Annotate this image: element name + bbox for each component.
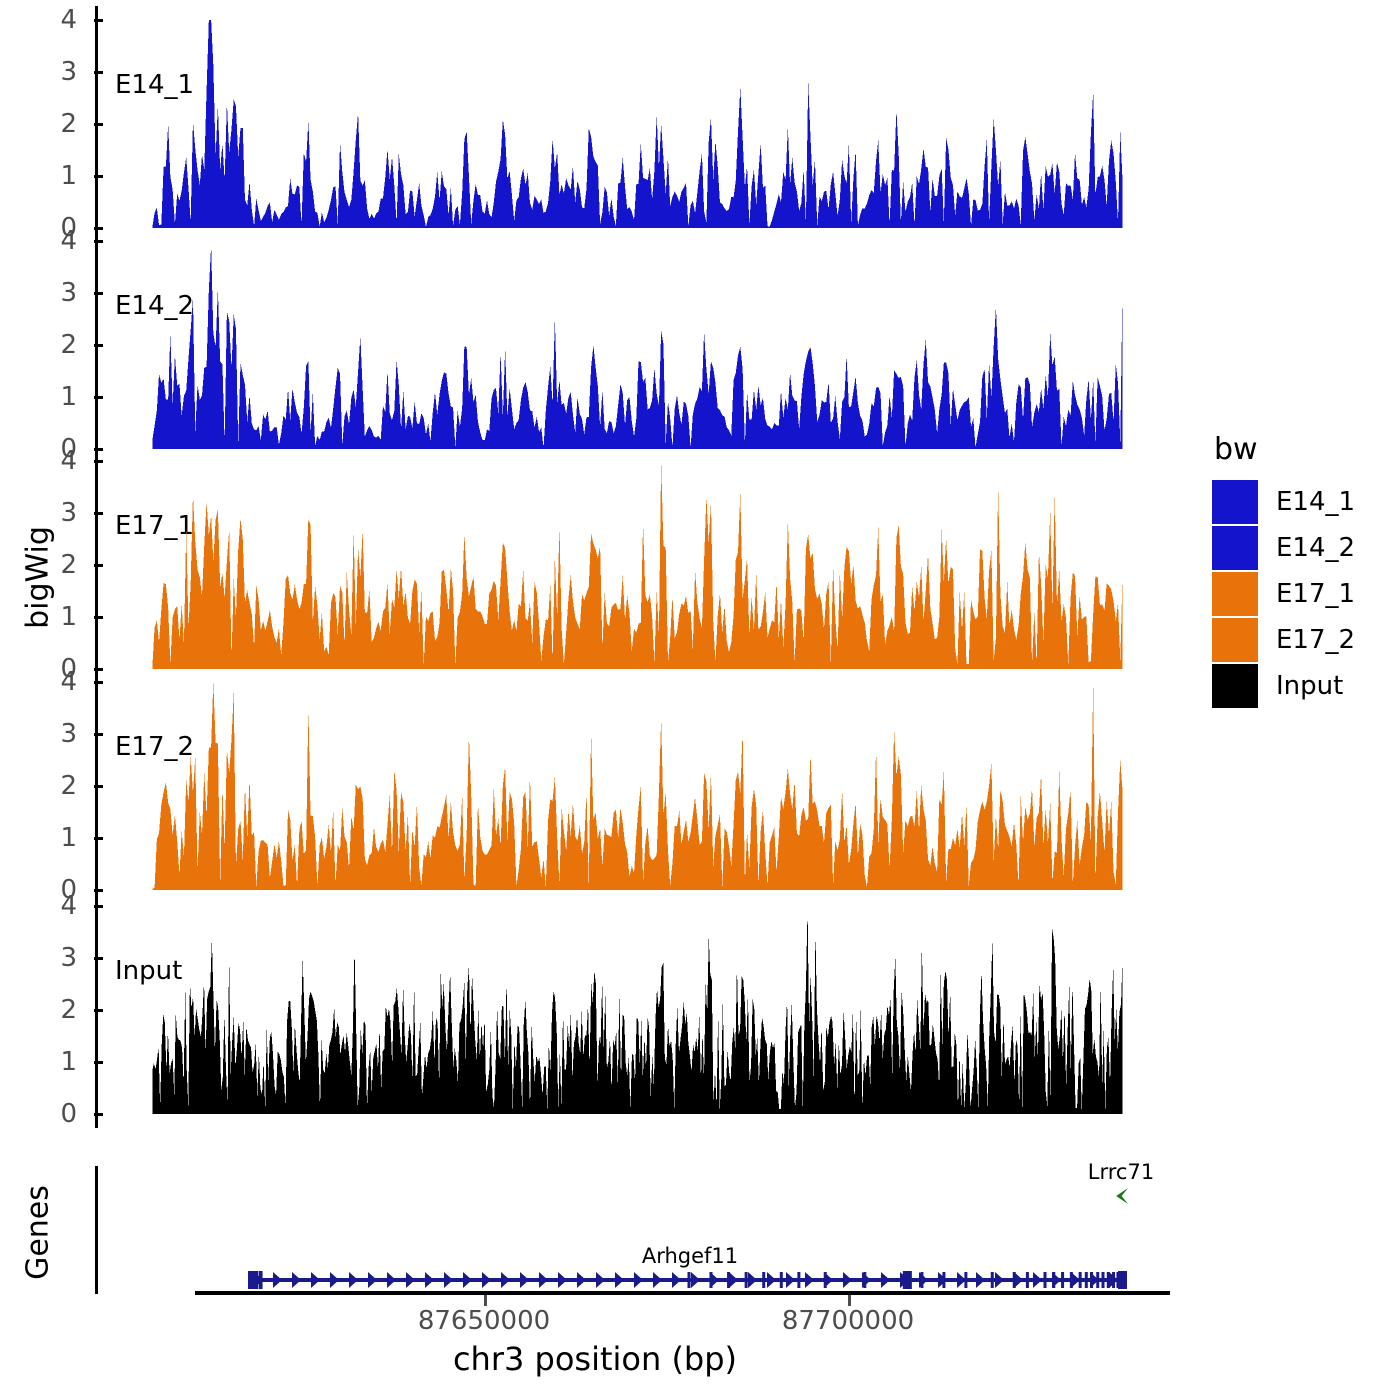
- signal-area-e14_1: [0, 6, 1190, 242]
- legend-label: E14_1: [1276, 487, 1355, 517]
- legend-label: E17_2: [1276, 625, 1355, 655]
- legend-swatch: [1212, 618, 1258, 662]
- signal-area-e14_2: [0, 227, 1190, 463]
- legend-items: E14_1E14_2E17_1E17_2Input: [1212, 479, 1397, 709]
- legend-item-e17_2[interactable]: E17_2: [1212, 617, 1397, 663]
- gene-label-lrrc71: Lrrc71: [1088, 1160, 1154, 1184]
- bigwig-track-e17_1: 01234E17_1: [0, 447, 1190, 683]
- gene-model-arhgef11[interactable]: [248, 1267, 1127, 1293]
- genome-browser-figure: bigWig Genes 01234E14_101234E14_201234E1…: [0, 0, 1400, 1400]
- legend-item-e17_1[interactable]: E17_1: [1212, 571, 1397, 617]
- bigwig-track-e17_2: 01234E17_2: [0, 668, 1190, 904]
- x-tick-mark: [484, 1295, 487, 1306]
- legend-label: Input: [1276, 671, 1343, 701]
- gene-model-lrrc71[interactable]: [1114, 1183, 1128, 1209]
- legend-item-input[interactable]: Input: [1212, 663, 1397, 709]
- gene-label-arhgef11: Arhgef11: [642, 1244, 738, 1268]
- legend-item-e14_1[interactable]: E14_1: [1212, 479, 1397, 525]
- x-axis-title: chr3 position (bp): [0, 1340, 1190, 1378]
- bigwig-track-input: 01234Input: [0, 892, 1190, 1128]
- bigwig-track-e14_1: 01234E14_1: [0, 6, 1190, 242]
- legend-swatch: [1212, 664, 1258, 708]
- legend-swatch: [1212, 526, 1258, 570]
- legend-swatch: [1212, 572, 1258, 616]
- signal-area-e17_2: [0, 668, 1190, 904]
- gene-axis-baseline: [195, 1291, 1170, 1295]
- legend-swatch: [1212, 480, 1258, 524]
- legend-label: E14_2: [1276, 533, 1355, 563]
- legend-item-e14_2[interactable]: E14_2: [1212, 525, 1397, 571]
- x-tick-mark: [848, 1295, 851, 1306]
- bigwig-track-e14_2: 01234E14_2: [0, 227, 1190, 463]
- signal-area-e17_1: [0, 447, 1190, 683]
- signal-area-input: [0, 892, 1190, 1128]
- genes-axis-spine: [95, 1166, 98, 1294]
- legend-title: bw: [1214, 432, 1397, 467]
- legend: bw E14_1E14_2E17_1E17_2Input: [1212, 432, 1397, 709]
- legend-label: E17_1: [1276, 579, 1355, 609]
- x-tick-label: 87700000: [782, 1306, 914, 1336]
- x-tick-label: 87650000: [418, 1306, 550, 1336]
